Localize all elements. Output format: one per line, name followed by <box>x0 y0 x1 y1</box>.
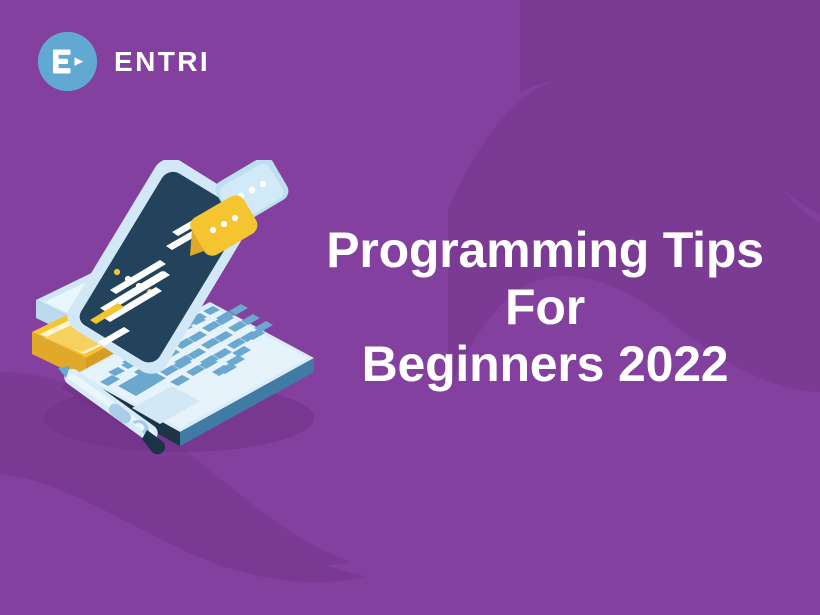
brand-name: ENTRI <box>114 48 210 76</box>
brand-lockup: ENTRI <box>38 32 210 91</box>
page-title: Programming Tips For Beginners 2022 <box>300 222 790 393</box>
entri-logo-icon <box>38 32 97 91</box>
page-title-line-1: Programming Tips For <box>300 222 790 336</box>
page-title-line-2: Beginners 2022 <box>300 336 790 393</box>
entri-e-play-icon <box>38 32 97 91</box>
logo-letter-e <box>53 50 71 74</box>
hero-illustration <box>14 160 344 460</box>
laptop-books-illustration <box>14 160 344 460</box>
promo-banner: ENTRI Programming Tips For Beginners 202… <box>0 0 820 615</box>
